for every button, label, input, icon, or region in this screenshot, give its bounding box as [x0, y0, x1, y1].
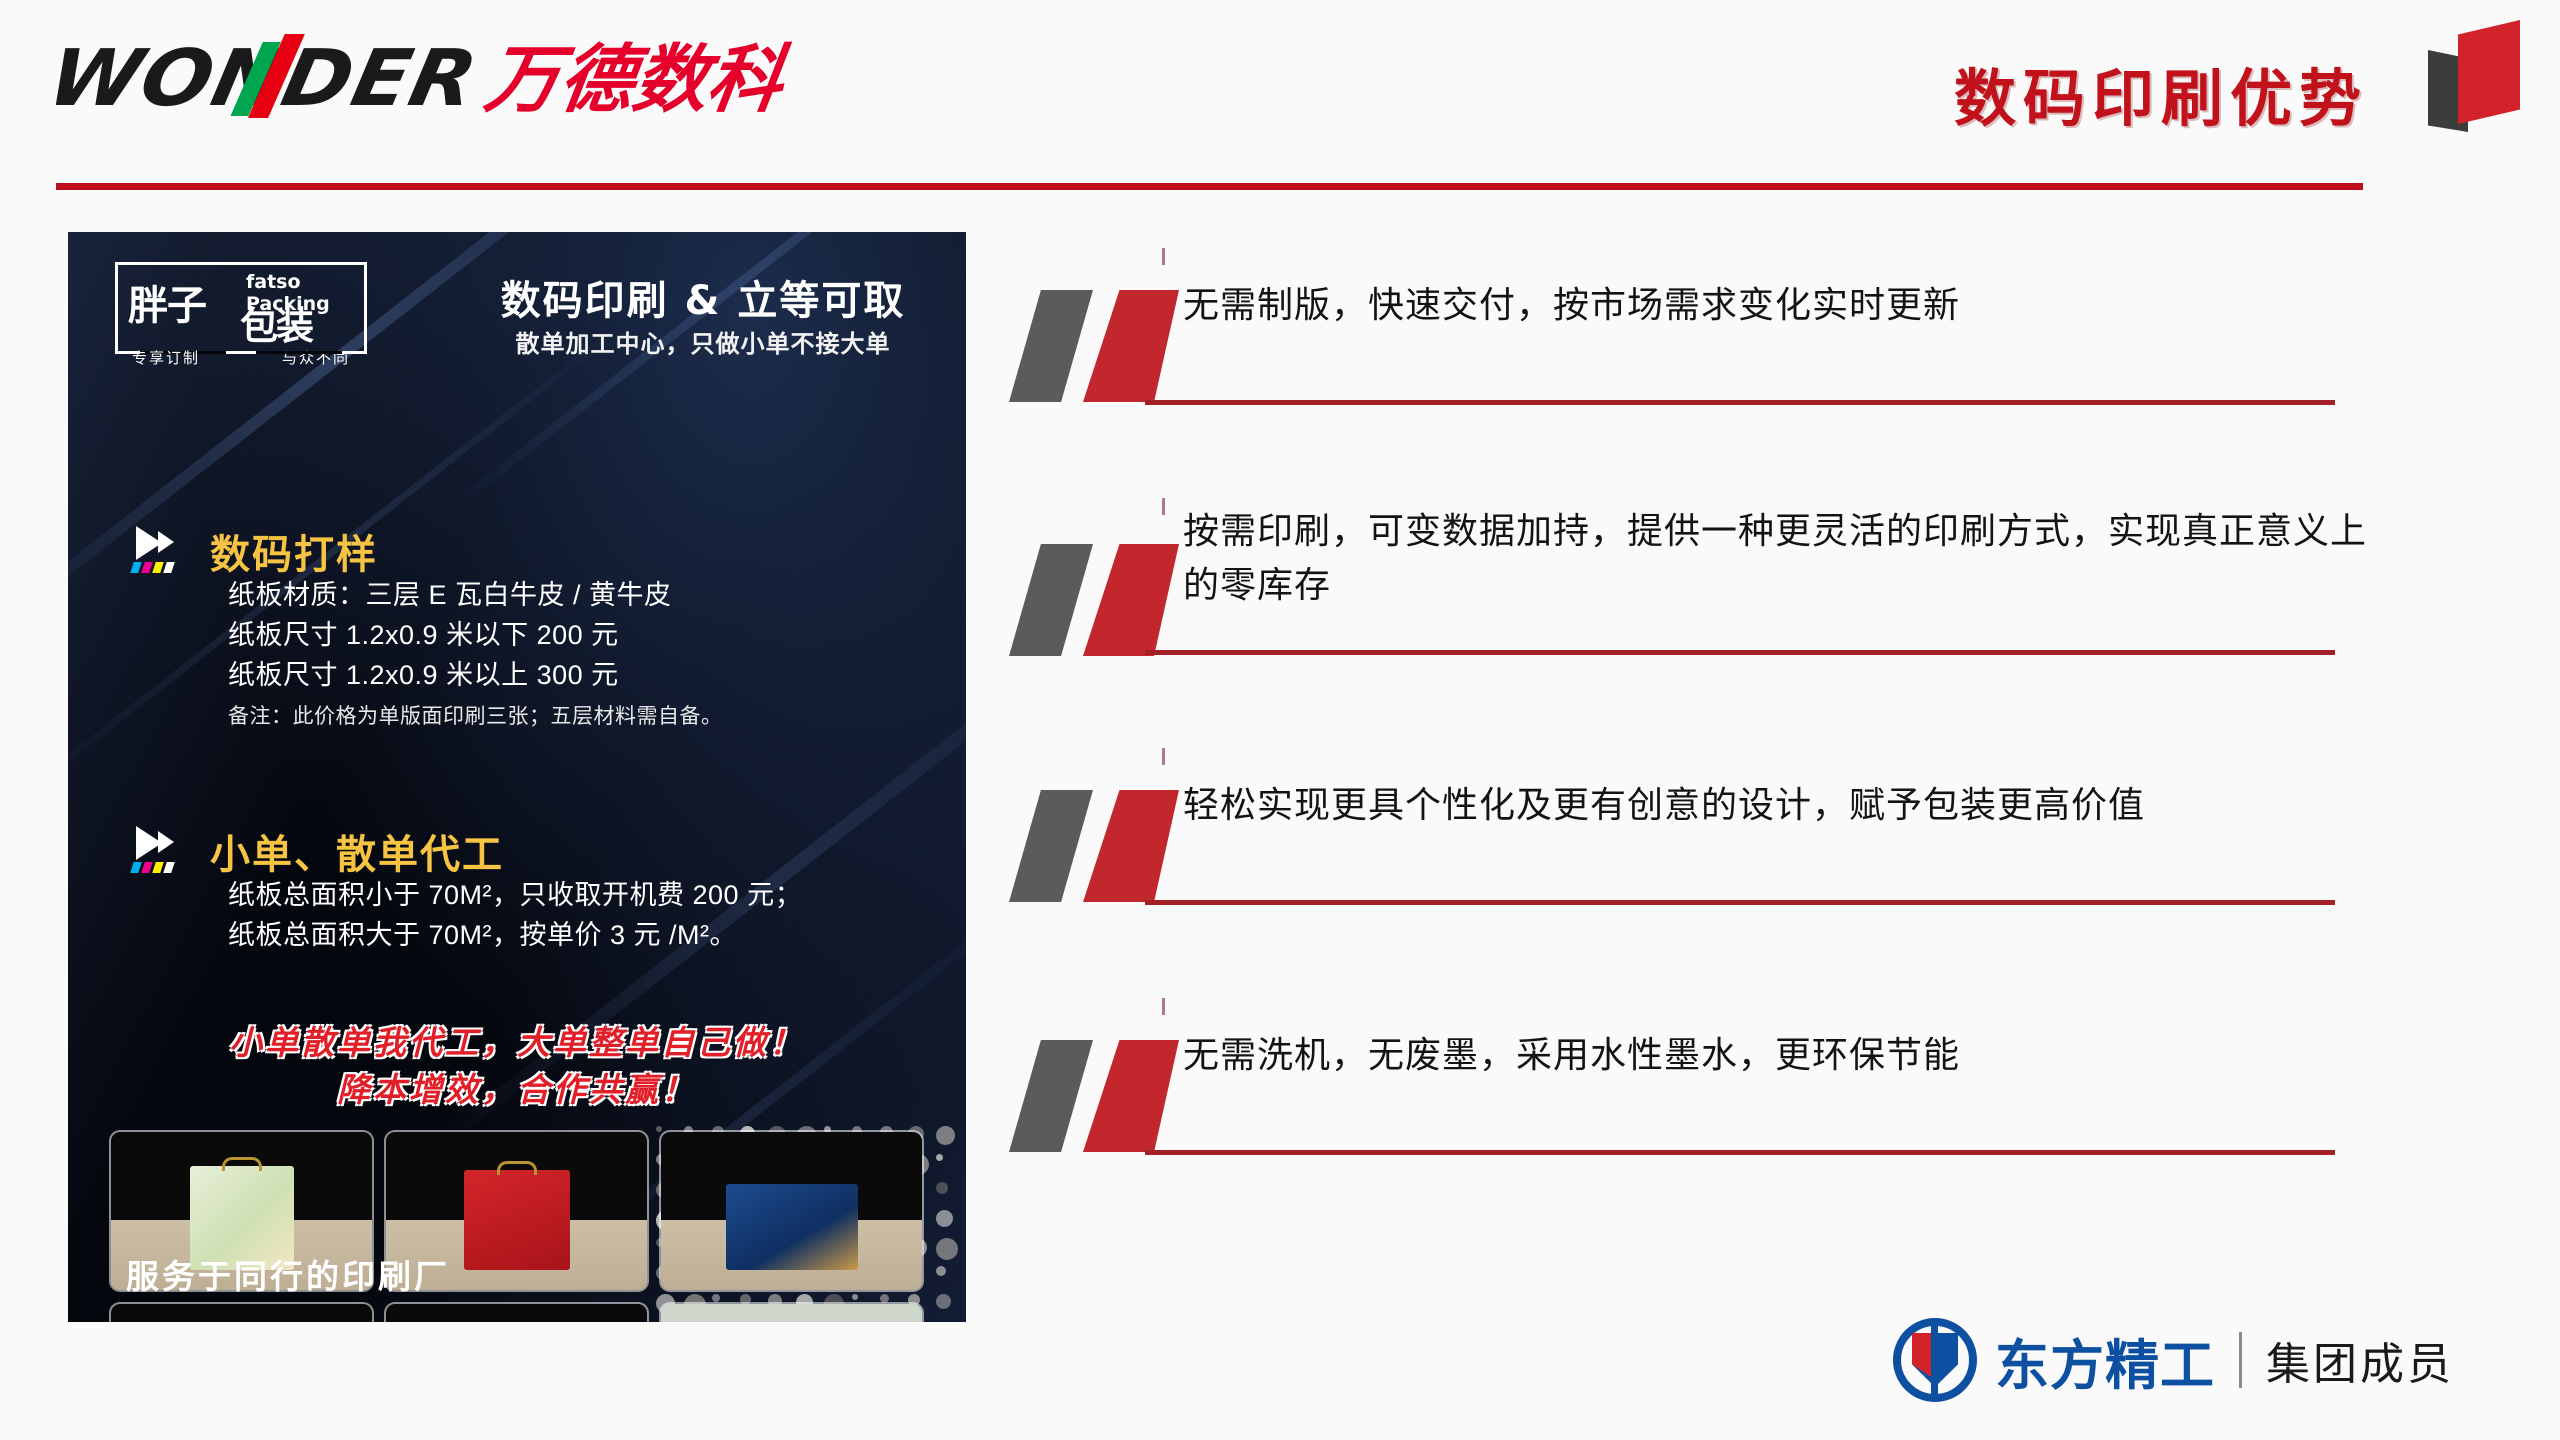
advantages-list: 无需制版，快速交付，按市场需求变化实时更新 按需印刷，可变数据加持，提供一种更灵…	[1005, 248, 2425, 1248]
bullet-marker-icon	[1005, 790, 1185, 902]
product-photo	[661, 1132, 922, 1290]
poster-headline: 数码印刷 & 立等可取	[468, 268, 938, 326]
marker-gray-bar	[1009, 290, 1093, 402]
bullet-marker-icon	[1005, 1040, 1185, 1152]
fatso-packing-logo: 胖子 fatso Packing 包装 专享订制 与众不同	[115, 262, 367, 354]
product-photo	[661, 1304, 922, 1322]
section-note: 备注：此价格为单版面印刷三张；五层材料需自备。	[228, 700, 723, 730]
brand-logo: WONDER 万德数科	[62, 40, 782, 118]
brand-wordmark-cn: 万德数科	[481, 43, 787, 117]
tick-mark	[1162, 998, 1165, 1015]
section-title: 小单、散单代工	[210, 822, 504, 880]
section-line: 纸板材质：三层 E 瓦白牛皮 / 黄牛皮	[228, 576, 723, 616]
footer-divider	[2239, 1332, 2242, 1388]
poster-slogan: 小单散单我代工，大单整单自己做！ 降本增效，合作共赢！	[68, 1020, 966, 1114]
product-photo	[386, 1304, 647, 1322]
poster-slogan-line1: 小单散单我代工，大单整单自己做！	[68, 1020, 966, 1067]
page-title: 数码印刷优势	[1954, 48, 2368, 138]
poster-footer-text: 服务于同行的印刷厂	[126, 1250, 450, 1298]
advantage-text: 按需印刷，可变数据加持，提供一种更灵活的印刷方式，实现真正意义上的零库存	[1183, 504, 2383, 612]
section-title: 数码打样	[210, 522, 378, 580]
section-line: 纸板总面积小于 70M²，只收取开机费 200 元；	[228, 876, 802, 916]
bullet-underline	[1145, 900, 2335, 905]
poster-subheadline: 散单加工中心，只做小单不接大单	[468, 324, 938, 359]
chevron-arrow-icon	[128, 526, 192, 582]
bullet-marker-icon	[1005, 544, 1185, 656]
promo-poster: 胖子 fatso Packing 包装 专享订制 与众不同 数码印刷 & 立等可…	[68, 232, 966, 1322]
tick-mark	[1162, 748, 1165, 765]
chevron-arrow-icon	[128, 826, 192, 882]
advantage-text: 无需洗机，无废墨，采用水性墨水，更环保节能	[1183, 1028, 2383, 1082]
bullet-underline	[1145, 1150, 2335, 1155]
fatso-logo-main-text: 胖子	[128, 273, 206, 331]
bullet-marker-icon	[1005, 290, 1185, 402]
advantage-item: 无需洗机，无废墨，采用水性墨水，更环保节能	[1005, 998, 2425, 1248]
section-line: 纸板总面积大于 70M²，按单价 3 元 /M²。	[228, 916, 802, 956]
advantage-item: 轻松实现更具个性化及更有创意的设计，赋予包装更高价值	[1005, 748, 2425, 998]
dongfang-jingong-icon	[1893, 1318, 1977, 1402]
product-photo	[111, 1304, 372, 1322]
marker-red-bar	[1083, 544, 1179, 656]
company-name: 东方精工	[1995, 1321, 2215, 1400]
tick-mark	[1162, 248, 1165, 265]
advantage-item: 按需印刷，可变数据加持，提供一种更灵活的印刷方式，实现真正意义上的零库存	[1005, 498, 2425, 748]
poster-slogan-line2: 降本增效，合作共赢！	[68, 1067, 966, 1114]
brand-wordmark-latin: WONDER	[42, 40, 484, 118]
advantage-text: 轻松实现更具个性化及更有创意的设计，赋予包装更高价值	[1183, 778, 2383, 832]
corner-book-red-panel	[2458, 20, 2520, 124]
marker-red-bar	[1083, 790, 1179, 902]
advantage-item: 无需制版，快速交付，按市场需求变化实时更新	[1005, 248, 2425, 498]
group-member-logo: 东方精工 集团成员	[1893, 1318, 2454, 1402]
corner-book-icon	[2420, 8, 2532, 133]
fatso-tagline-right: 与众不同	[282, 347, 350, 368]
slide-root: WONDER 万德数科 数码印刷优势 胖子 fatso Packing 包装 专…	[0, 0, 2560, 1440]
header-divider	[56, 183, 2363, 190]
advantage-text: 无需制版，快速交付，按市场需求变化实时更新	[1183, 278, 2383, 332]
poster-header: 胖子 fatso Packing 包装 专享订制 与众不同 数码印刷 & 立等可…	[68, 232, 966, 380]
fatso-logo-sub-text: 包装	[240, 295, 312, 350]
section-line: 纸板尺寸 1.2x0.9 米以上 300 元	[228, 656, 723, 696]
marker-gray-bar	[1009, 790, 1093, 902]
membership-label: 集团成员	[2266, 1328, 2454, 1392]
marker-red-bar	[1083, 1040, 1179, 1152]
marker-gray-bar	[1009, 1040, 1093, 1152]
bullet-underline	[1145, 650, 2335, 655]
marker-red-bar	[1083, 290, 1179, 402]
marker-gray-bar	[1009, 544, 1093, 656]
bullet-underline	[1145, 400, 2335, 405]
fatso-tagline-left: 专享订制	[132, 347, 200, 368]
tick-mark	[1162, 498, 1165, 515]
section-line: 纸板尺寸 1.2x0.9 米以下 200 元	[228, 616, 723, 656]
